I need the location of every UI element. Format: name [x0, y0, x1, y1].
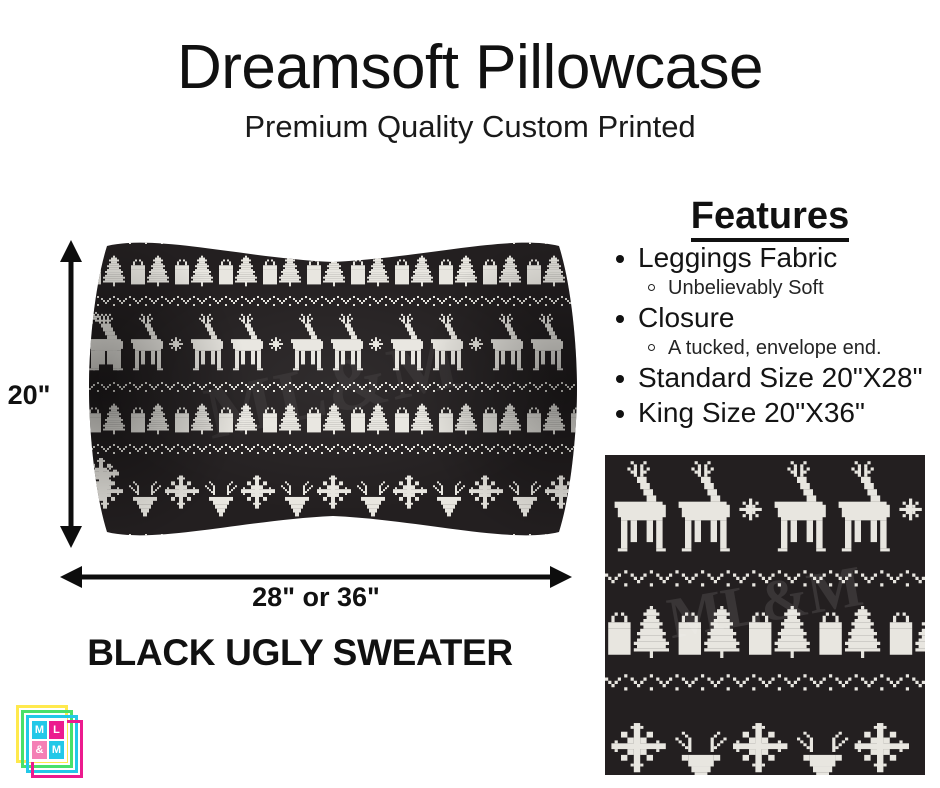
knit-pattern	[85, 232, 581, 545]
swatch-band-zigzag	[605, 567, 925, 593]
feature-label: Standard Size 20"X28"	[610, 361, 940, 395]
swatch-band-stag-snowflake	[605, 697, 925, 775]
logo-cell-amp: &	[32, 741, 47, 759]
swatch-knit-pattern	[605, 455, 925, 775]
features-list: Leggings Fabric Unbelievably Soft Closur…	[600, 241, 940, 430]
height-dimension-arrow	[56, 240, 86, 548]
swatch-band-trees-gifts	[605, 593, 925, 671]
logo-letter-grid: M L & M	[29, 718, 67, 762]
list-item: Leggings Fabric Unbelievably Soft	[610, 241, 940, 301]
knit-band-zigzag	[85, 442, 581, 458]
page-title: Dreamsoft Pillowcase	[0, 36, 940, 99]
knit-band-zigzag	[85, 294, 581, 310]
knit-band-trees-gifts	[85, 396, 581, 442]
feature-detail: Unbelievably Soft	[610, 275, 940, 301]
knit-band-zigzag	[85, 532, 581, 545]
fabric-swatch-image: ML&M	[605, 455, 925, 775]
swatch-band-reindeer	[605, 455, 925, 567]
knit-band-zigzag	[85, 380, 581, 396]
logo-cell-m2: M	[49, 741, 64, 759]
list-item: Standard Size 20"X28"	[610, 361, 940, 395]
header: Dreamsoft Pillowcase Premium Quality Cus…	[0, 36, 940, 145]
height-dimension-label: 20"	[2, 380, 56, 411]
feature-label: Leggings Fabric	[610, 241, 940, 275]
feature-label: Closure	[610, 301, 940, 335]
features-panel: Features Leggings Fabric Unbelievably So…	[600, 196, 940, 430]
variant-caption: BLACK UGLY SWEATER	[0, 632, 600, 674]
knit-band-reindeer	[85, 310, 581, 380]
pillow-image: ML&M	[85, 232, 581, 545]
knit-band-stag-snowflake	[85, 458, 581, 532]
logo-cell-l: L	[49, 721, 64, 739]
logo-cell-m1: M	[32, 721, 47, 739]
features-heading: Features	[600, 196, 940, 237]
swatch-band-zigzag	[605, 671, 925, 697]
width-dimension-label: 28" or 36"	[60, 582, 572, 613]
pillow-figure: 20"	[0, 200, 600, 630]
brand-logo[interactable]: M L & M	[16, 705, 82, 771]
page-subtitle: Premium Quality Custom Printed	[0, 109, 940, 145]
list-item: King Size 20"X36"	[610, 396, 940, 430]
feature-detail: A tucked, envelope end.	[610, 335, 940, 361]
feature-label: King Size 20"X36"	[610, 396, 940, 430]
list-item: Closure A tucked, envelope end.	[610, 301, 940, 361]
features-heading-text: Features	[691, 195, 849, 242]
knit-band-zigzag	[85, 232, 581, 248]
knit-band-trees-gifts	[85, 248, 581, 294]
